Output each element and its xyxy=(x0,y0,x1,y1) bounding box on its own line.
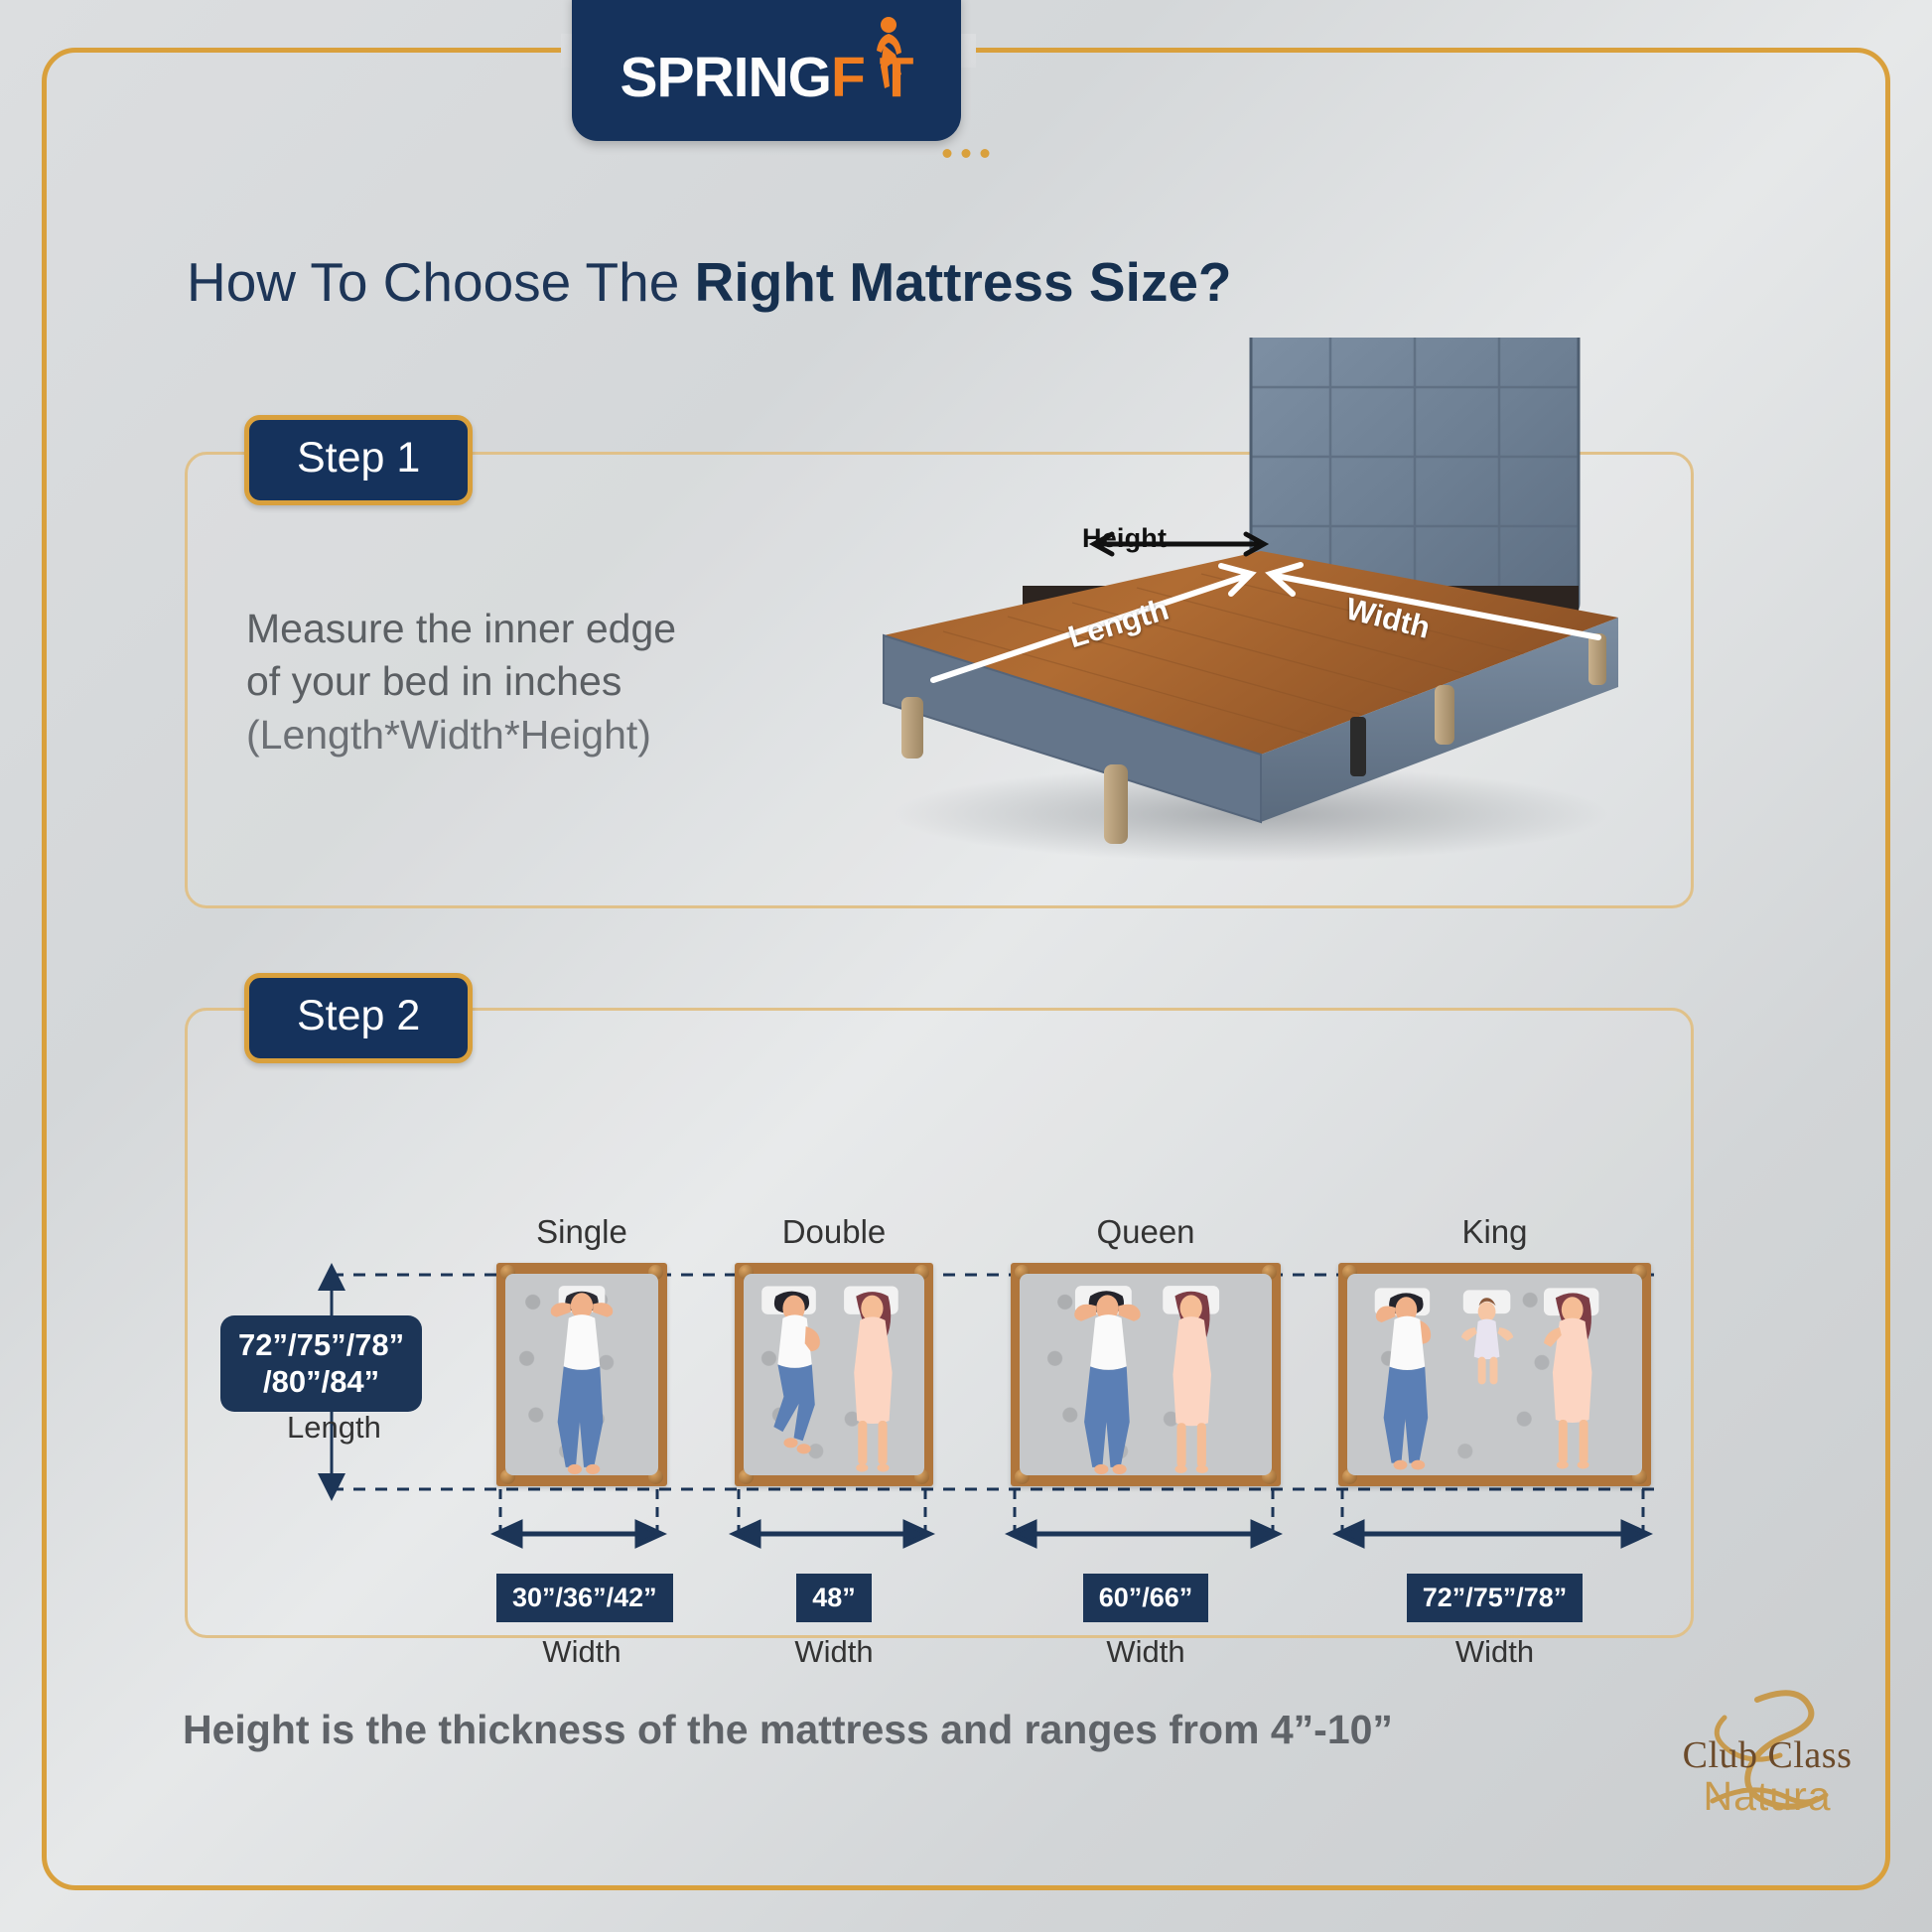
size-name-queen: Queen xyxy=(1011,1213,1281,1251)
bed-illustration xyxy=(794,338,1688,933)
width-badge-wrap-double: 48” xyxy=(735,1574,933,1622)
mattress-surface-double xyxy=(744,1274,924,1475)
width-value-single: 30”/36”/42” xyxy=(496,1574,673,1622)
length-value-line-1: 72”/75”/78” xyxy=(238,1327,404,1364)
step-1-instruction: Measure the inner edge of your bed in in… xyxy=(246,603,802,761)
sleeper-illustration-single xyxy=(505,1274,658,1475)
partner-logo-line-1: Club Class xyxy=(1643,1733,1891,1777)
size-column-double: Double xyxy=(735,1213,933,1670)
partner-logo-line-2: Natura xyxy=(1643,1773,1891,1820)
width-caption-single: Width xyxy=(496,1634,667,1670)
width-value-queen: 60”/66” xyxy=(1083,1574,1209,1622)
bed-label-height: Height xyxy=(1082,523,1167,554)
length-value-badge: 72”/75”/78” /80”/84” xyxy=(220,1315,422,1412)
bed-svg xyxy=(794,338,1688,933)
brand-logo-fit: F T xyxy=(831,45,912,110)
width-badge-wrap-single: 30”/36”/42” xyxy=(496,1574,667,1622)
brand-logo-tab: SPRING F T xyxy=(572,0,961,141)
mattress-queen xyxy=(1011,1263,1281,1486)
brand-logo-spring: SPRING xyxy=(620,45,831,110)
sleeper-illustration-double xyxy=(744,1274,924,1475)
length-caption: Length xyxy=(287,1410,381,1446)
partner-logo-club-class-natura: Club Class Natura xyxy=(1643,1688,1891,1837)
width-caption-king: Width xyxy=(1338,1634,1651,1670)
step-2-badge: Step 2 xyxy=(244,973,473,1063)
jumping-person-icon xyxy=(872,15,901,88)
step-1-line-1: Measure the inner edge xyxy=(246,603,802,655)
step-1-line-3: (Length*Width*Height) xyxy=(246,709,802,761)
width-caption-queen: Width xyxy=(1011,1634,1281,1670)
mattress-single xyxy=(496,1263,667,1486)
size-column-single: Single 30”/36”/42” Width xyxy=(496,1213,667,1670)
width-badge-wrap-king: 72”/75”/78” xyxy=(1338,1574,1651,1622)
mattress-king xyxy=(1338,1263,1651,1486)
size-name-king: King xyxy=(1338,1213,1651,1251)
mattress-surface-king xyxy=(1347,1274,1642,1475)
size-name-double: Double xyxy=(735,1213,933,1251)
mattress-surface-queen xyxy=(1020,1274,1272,1475)
mattress-double xyxy=(735,1263,933,1486)
width-value-double: 48” xyxy=(796,1574,872,1622)
logo-dots-decoration xyxy=(943,149,990,158)
size-name-single: Single xyxy=(496,1213,667,1251)
size-column-queen: Queen xyxy=(1011,1213,1281,1670)
size-column-king: King xyxy=(1338,1213,1651,1670)
page-title-bold: Right Mattress Size? xyxy=(695,251,1232,313)
sleeper-illustration-king xyxy=(1347,1274,1642,1475)
width-caption-double: Width xyxy=(735,1634,933,1670)
step-1-badge: Step 1 xyxy=(244,415,473,505)
mattress-surface-single xyxy=(505,1274,658,1475)
footer-note: Height is the thickness of the mattress … xyxy=(183,1707,1393,1753)
step-1-line-2: of your bed in inches xyxy=(246,655,802,708)
page-title: How To Choose The Right Mattress Size? xyxy=(187,250,1232,314)
sleeper-illustration-queen xyxy=(1020,1274,1272,1475)
width-value-king: 72”/75”/78” xyxy=(1407,1574,1584,1622)
width-badge-wrap-queen: 60”/66” xyxy=(1011,1574,1281,1622)
brand-logo-text: SPRING F T xyxy=(620,45,912,110)
length-value-line-2: /80”/84” xyxy=(238,1364,404,1401)
page-title-normal: How To Choose The xyxy=(187,251,695,313)
